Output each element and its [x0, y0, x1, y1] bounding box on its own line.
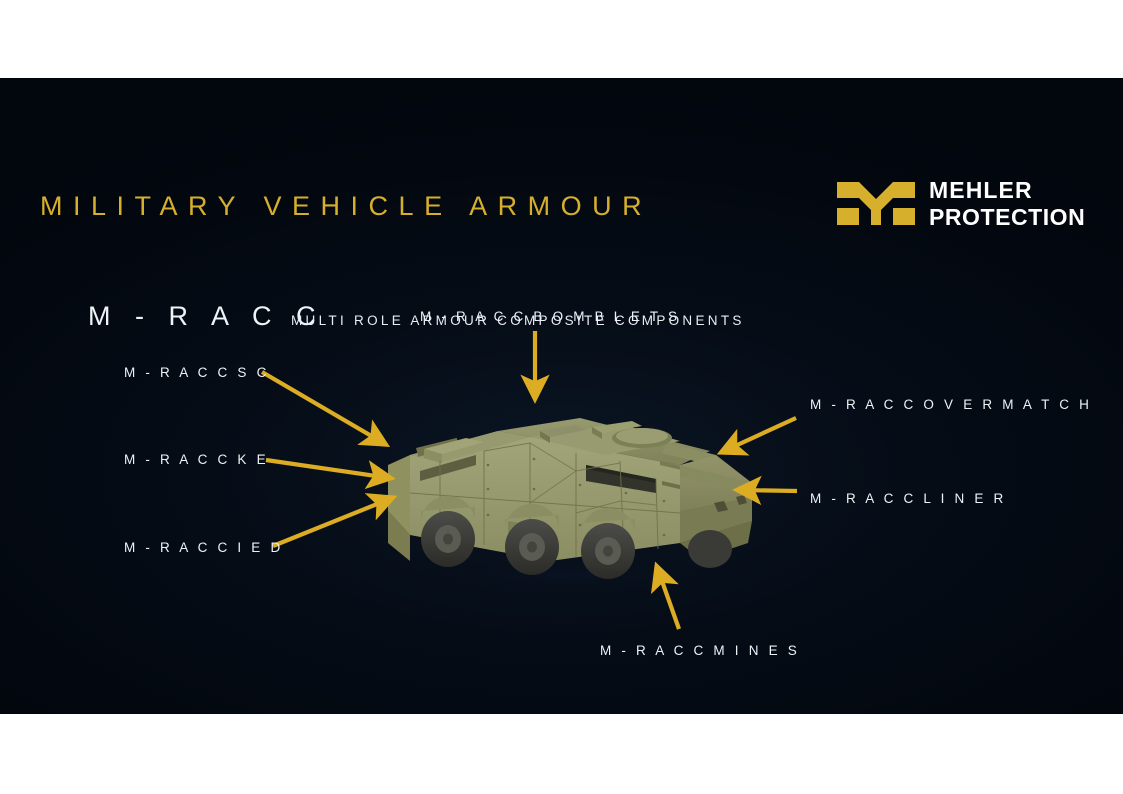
page-title: MILITARY VEHICLE ARMOUR [40, 191, 652, 222]
callout-label-overmatch: M - R A C C O V E R M A T C H [810, 397, 1092, 412]
section-title: M - R A C C [88, 301, 324, 332]
mehler-m-mark-icon [837, 182, 915, 225]
arrow-sc [262, 372, 385, 444]
arrow-ke [266, 460, 390, 478]
mehler-protection-logo: MEHLER PROTECTION [837, 181, 1102, 229]
mehler-protection-wordmark: MEHLER PROTECTION [929, 179, 1085, 229]
armoured-vehicle-illustration [380, 393, 770, 593]
callout-label-liner: M - R A C C L I N E R [810, 491, 1006, 506]
logo-line-1: MEHLER [929, 179, 1085, 202]
arrow-ied [273, 498, 392, 546]
callout-label-bomblets: M - R A C C B O M B L E T S [420, 309, 680, 324]
callout-label-sc: M - R A C C S C [124, 365, 270, 380]
slide-body: MILITARY VEHICLE ARMOUR MEHLER PROTECTIO… [0, 78, 1123, 714]
slide-canvas: MILITARY VEHICLE ARMOUR MEHLER PROTECTIO… [0, 0, 1123, 794]
callout-label-ied: M - R A C C I E D [124, 540, 283, 555]
callout-label-ke: M - R A C C K E [124, 452, 269, 467]
callout-label-mines: M - R A C C M I N E S [600, 643, 800, 658]
logo-line-2: PROTECTION [929, 206, 1085, 229]
